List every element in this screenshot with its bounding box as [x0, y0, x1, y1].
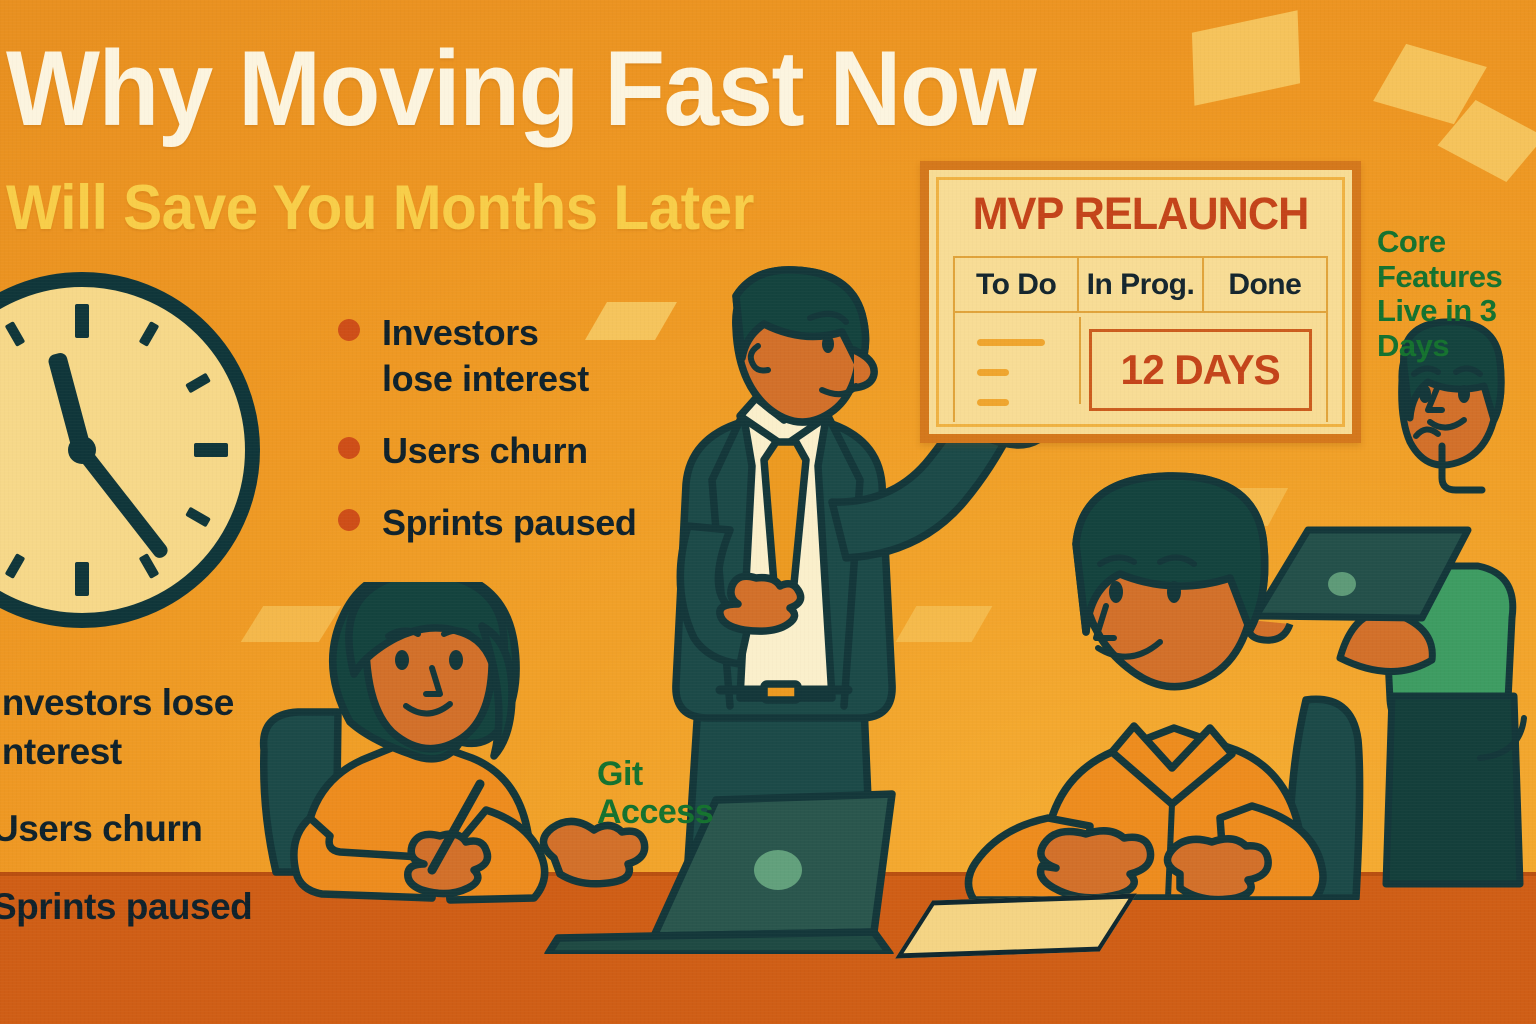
- board-days-label: 12 DAYS: [1121, 346, 1280, 394]
- bullet-dot-icon: [338, 509, 360, 531]
- bullet-dot-icon: [338, 319, 360, 341]
- callout-git-access: Git Access: [597, 755, 713, 831]
- board-column-todo[interactable]: To Do: [955, 258, 1079, 311]
- clock-tick-major: [194, 443, 228, 457]
- overlay-line: Users churn: [0, 804, 292, 853]
- clock-center-pin: [68, 436, 96, 464]
- list-item: Sprints paused: [338, 500, 668, 546]
- poster-canvas: MVP RELAUNCH To Do In Prog. Done 12 DAYS…: [0, 0, 1536, 1024]
- clock-tick-major: [75, 304, 89, 338]
- page-subtitle: Will Save You Months Later: [6, 176, 1048, 240]
- callout-core-features: Core Features Live in 3 Days: [1377, 225, 1536, 364]
- floating-paper: [1192, 10, 1300, 106]
- board-column-inprog[interactable]: In Prog.: [1079, 258, 1203, 311]
- bullet-label: Users churn: [382, 428, 588, 474]
- list-item: Investors lose interest: [338, 310, 668, 402]
- wall-clock: [0, 272, 260, 628]
- risk-list-overlay: Investors lose interest Users churn Spri…: [0, 678, 292, 959]
- page-title: Why Moving Fast Now: [6, 34, 1048, 143]
- board-task-bar[interactable]: [977, 339, 1045, 346]
- figure-listener: [930, 470, 1420, 900]
- overlay-line: Investors lose interest: [0, 678, 292, 776]
- board-task-bar[interactable]: [977, 399, 1009, 406]
- prop-table-sheet: [895, 894, 1137, 959]
- board-days-chip[interactable]: 12 DAYS: [1089, 329, 1312, 411]
- prop-laptop-open: [540, 776, 910, 954]
- board-task-bar[interactable]: [977, 369, 1009, 376]
- board-body: 12 DAYS: [953, 313, 1328, 422]
- bullet-label: Investors lose interest: [382, 310, 589, 402]
- risk-bullet-list: Investors lose interest Users churn Spri…: [338, 310, 668, 572]
- board-column-headers: To Do In Prog. Done: [953, 256, 1328, 313]
- bullet-label: Sprints paused: [382, 500, 636, 546]
- clock-tick-major: [75, 562, 89, 596]
- board-column-done[interactable]: Done: [1204, 258, 1326, 311]
- bullet-dot-icon: [338, 437, 360, 459]
- board-column-divider: [1079, 317, 1081, 404]
- overlay-line: Sprints paused: [0, 882, 292, 931]
- list-item: Users churn: [338, 428, 668, 474]
